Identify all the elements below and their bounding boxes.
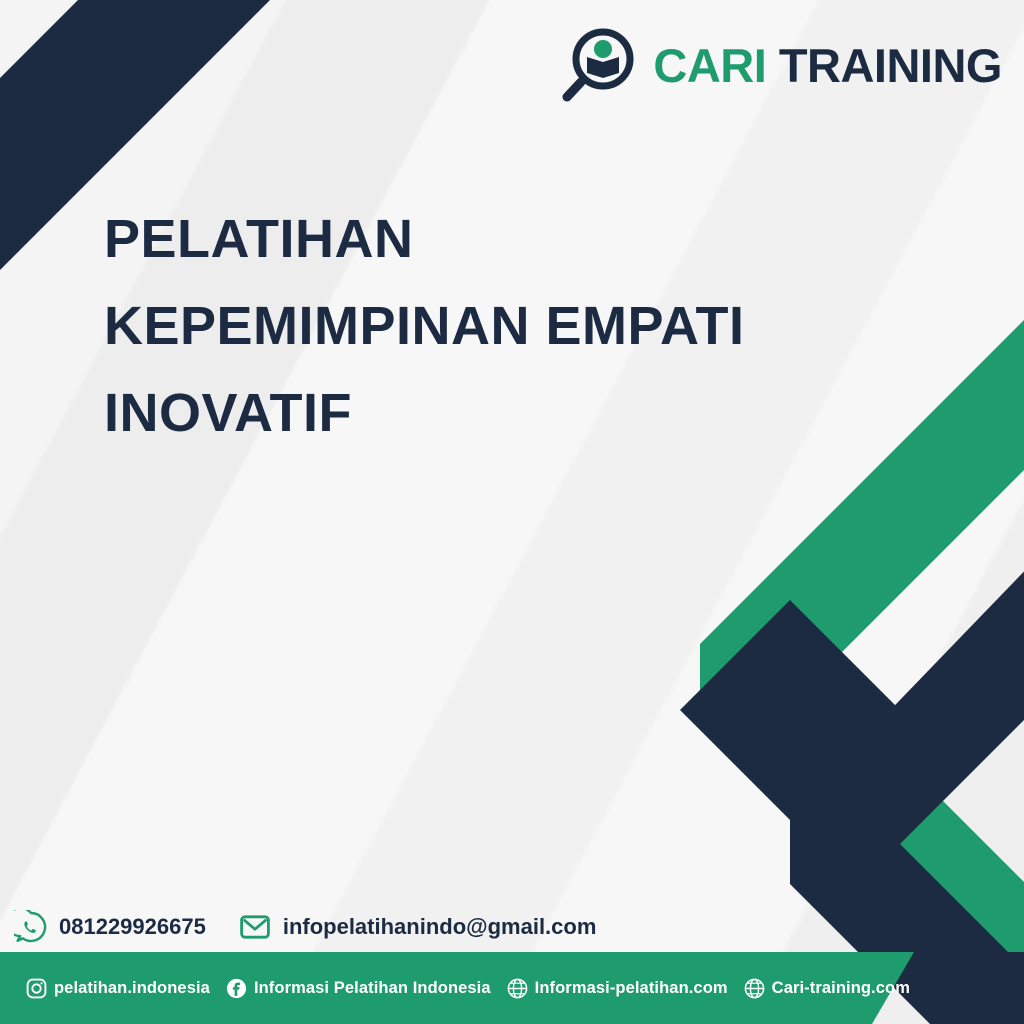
footer-label-facebook: Informasi Pelatihan Indonesia xyxy=(254,979,491,998)
footer-links: pelatihan.indonesia Informasi Pelatihan … xyxy=(0,952,1024,1024)
footer-link-website-2[interactable]: Cari-training.com xyxy=(744,978,910,999)
facebook-icon xyxy=(226,978,247,999)
title-line-3: INOVATIF xyxy=(104,370,894,457)
globe-icon xyxy=(507,978,528,999)
instagram-icon xyxy=(26,978,47,999)
title-line-1: PELATIHAN xyxy=(104,196,894,283)
globe-icon xyxy=(744,978,765,999)
footer-label-instagram: pelatihan.indonesia xyxy=(54,979,210,998)
footer-link-facebook[interactable]: Informasi Pelatihan Indonesia xyxy=(226,978,491,999)
page-title: PELATIHAN KEPEMIMPINAN EMPATI INOVATIF xyxy=(104,196,894,457)
whatsapp-number: 081229926675 xyxy=(59,914,206,940)
whatsapp-contact[interactable]: 081229926675 xyxy=(14,910,206,944)
poster-canvas: CARI TRAINING PELATIHAN KEPEMIMPINAN EMP… xyxy=(0,0,1024,1024)
contact-row: 081229926675 infopelatihanindo@gmail.com xyxy=(14,903,596,951)
footer-link-instagram[interactable]: pelatihan.indonesia xyxy=(26,978,210,999)
footer-link-website-1[interactable]: Informasi-pelatihan.com xyxy=(507,978,728,999)
email-contact[interactable]: infopelatihanindo@gmail.com xyxy=(238,910,597,944)
brand-name-cari: CARI xyxy=(653,39,766,92)
topleft-corner-shapes xyxy=(0,0,1024,1024)
email-address: infopelatihanindo@gmail.com xyxy=(283,914,597,940)
magnifier-book-icon xyxy=(561,26,639,104)
brand-logo: CARI TRAINING xyxy=(561,26,1002,104)
footer-label-website-2: Cari-training.com xyxy=(772,979,910,998)
title-line-2: KEPEMIMPINAN EMPATI xyxy=(104,283,894,370)
whatsapp-icon xyxy=(14,910,48,944)
envelope-icon xyxy=(238,910,272,944)
footer-label-website-1: Informasi-pelatihan.com xyxy=(535,979,728,998)
brand-name-training: TRAINING xyxy=(779,39,1002,92)
brand-name: CARI TRAINING xyxy=(653,42,1002,89)
